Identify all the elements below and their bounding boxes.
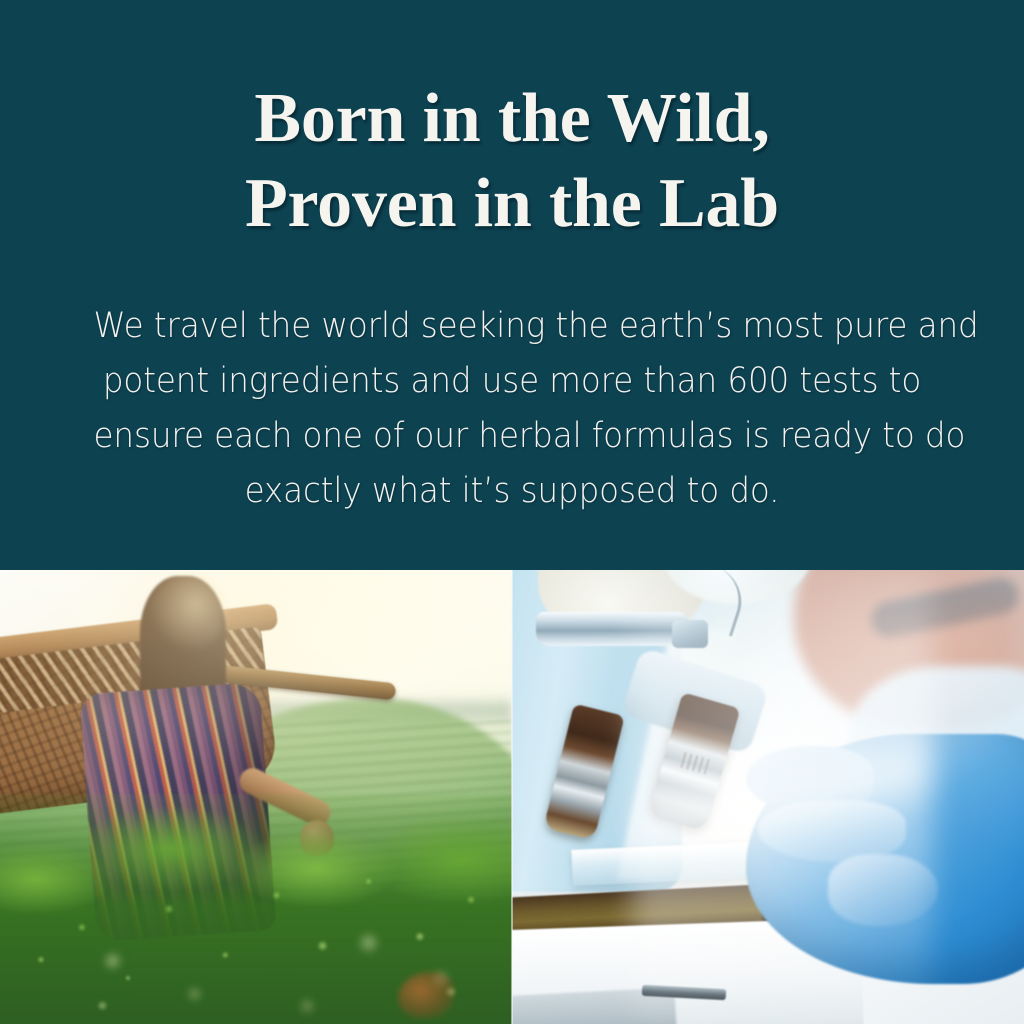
- headline-line-2: Proven in the Lab: [62, 161, 962, 246]
- promo-graphic: Born in the Wild, Proven in the Lab We t…: [0, 0, 1024, 1024]
- body-copy: We travel the world seeking the earth’s …: [94, 247, 931, 519]
- body-line-2: potent ingredients and use more than 600…: [94, 354, 931, 409]
- nosepiece-clip: [672, 620, 708, 648]
- glove-thumb: [828, 854, 938, 926]
- glove-finger-lower: [758, 800, 906, 862]
- page-title: Born in the Wild, Proven in the Lab: [62, 0, 962, 247]
- chrome-nosepiece-ring: [536, 612, 688, 646]
- body-line-1: We travel the world seeking the earth’s …: [94, 299, 931, 354]
- tea-harvester-photo: [0, 570, 512, 1024]
- body-line-3: ensure each one of our herbal formulas i…: [94, 409, 931, 464]
- harvester-head-glow: [150, 572, 226, 652]
- photo-divider: [511, 570, 513, 1024]
- body-line-4: exactly what it’s supposed to do.: [94, 464, 931, 519]
- text-panel: Born in the Wild, Proven in the Lab We t…: [0, 0, 1024, 570]
- headline-line-1: Born in the Wild,: [62, 76, 962, 161]
- lab-microscope-photo: [512, 570, 1024, 1024]
- red-leaf-accent: [398, 972, 454, 1018]
